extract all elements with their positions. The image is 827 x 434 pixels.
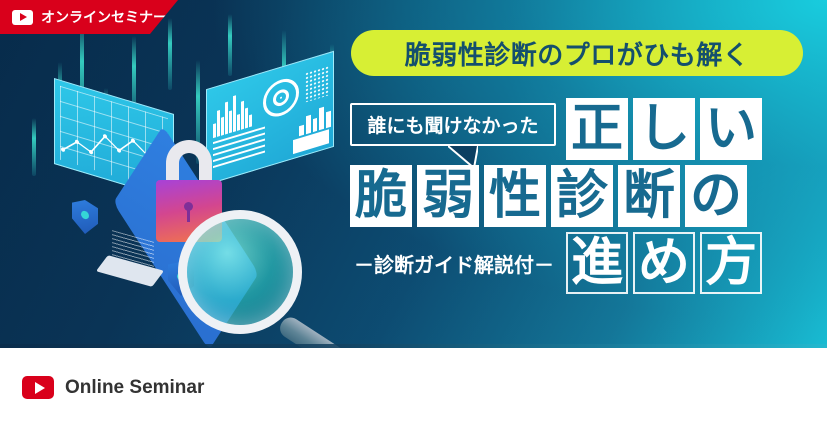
footer-bar: Online Seminar 5.23THU 13:00~14:00／17:00… [0,348,827,434]
speech-bubble: 誰にも聞けなかった [350,103,556,146]
laptop-icon [102,236,164,282]
ribbon-label: オンラインセミナー [41,7,167,27]
speech-bubble-text: 誰にも聞けなかった [367,111,538,138]
headline-char: 進 [566,232,628,294]
youtube-play-icon [22,376,54,399]
youtube-play-icon [12,10,33,25]
online-seminar-ribbon: オンラインセミナー [0,0,178,34]
headline-char: 断 [618,165,680,227]
headline-row-2: 脆 弱 性 診 断 の [350,165,747,227]
footer-brand: Online Seminar [22,376,204,399]
dot-matrix-icon [305,65,329,102]
hero-panel: 脆弱性診断のプロがひも解く 誰にも聞けなかった 正 し い 脆 弱 性 診 断 … [0,0,827,348]
radar-spiral-icon [263,74,299,121]
headline-row-1: 正 し い [566,98,762,160]
headline-char: の [685,165,747,227]
headline-char: め [633,232,695,294]
headline-char: 正 [566,98,628,160]
headline-char: 性 [484,165,546,227]
headline-char: 脆 [350,165,412,227]
dashboard-screen-icon [206,51,334,185]
headline-char: 診 [551,165,613,227]
tagline-pill: 脆弱性診断のプロがひも解く [351,30,803,76]
sub-note-text: －診断ガイド解説付－ [350,248,558,278]
headline-char: 弱 [417,165,479,227]
headline-char: 方 [700,232,762,294]
webinar-banner: 脆弱性診断のプロがひも解く 誰にも聞けなかった 正 し い 脆 弱 性 診 断 … [0,0,827,434]
magnifying-glass-icon [178,210,358,348]
headline-row-3: 進 め 方 [566,232,762,294]
footer-brand-label: Online Seminar [65,377,204,399]
headline-char: い [700,98,762,160]
security-illustration [28,52,358,332]
headline-char: し [633,98,695,160]
tagline-pill-text: 脆弱性診断のプロがひも解く [405,35,750,72]
